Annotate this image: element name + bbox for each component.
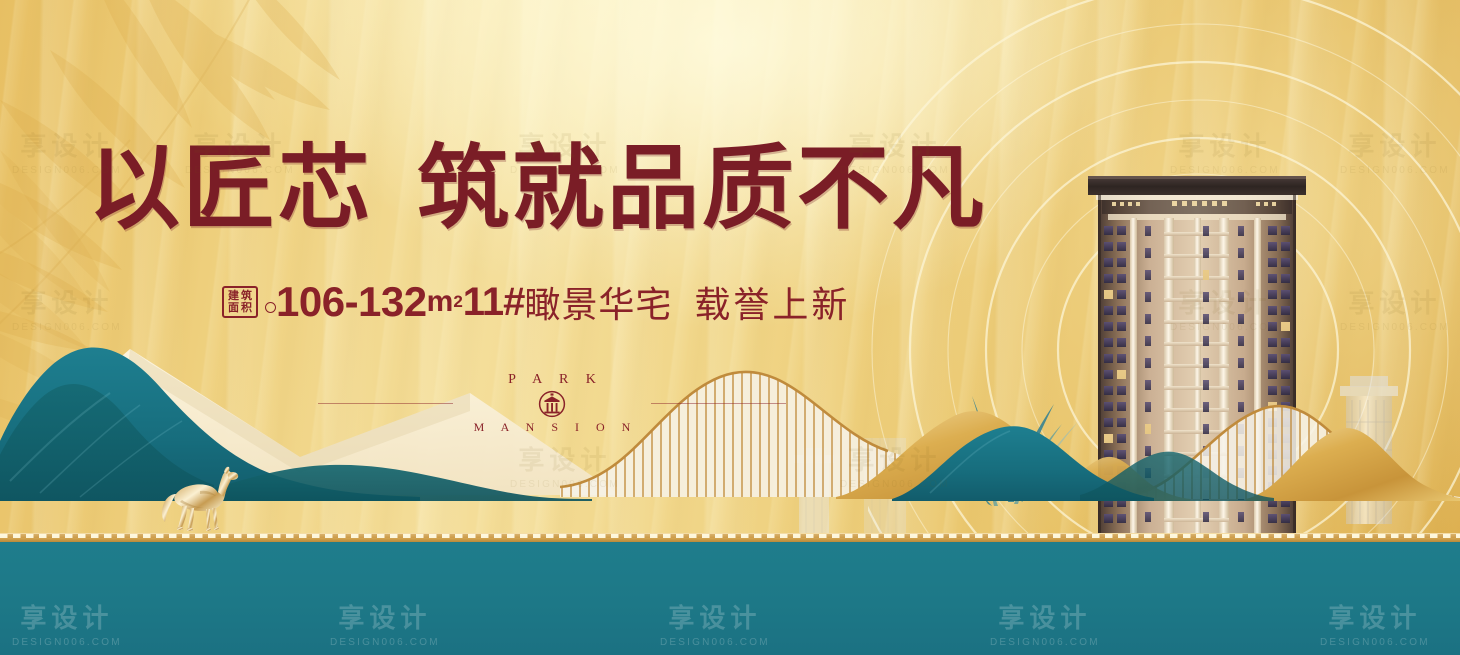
- footer-band: [0, 542, 1460, 655]
- feature-text: 瞰景华宅: [524, 276, 672, 328]
- area-range-value: 106-132: [276, 278, 427, 326]
- area-unit: m: [427, 285, 454, 319]
- logo-rule-left: [318, 403, 453, 404]
- tagline-text: 载誉上新: [694, 276, 850, 328]
- badge-char-1: 建: [227, 290, 240, 302]
- headline-part-1: 以匠芯: [88, 138, 373, 240]
- gold-divider-strip: [0, 533, 1460, 542]
- poster-canvas: 以匠芯筑就品质不凡 建 筑 面 积 106-132 m2 11# 瞰景华宅 载誉…: [0, 0, 1460, 655]
- badge-char-2: 筑: [240, 290, 253, 302]
- logo-rule-right: [651, 403, 786, 404]
- page-title: 以匠芯筑就品质不凡: [88, 140, 987, 239]
- headline-part-2: 筑就品质不凡: [417, 138, 987, 240]
- subtitle-line: 建 筑 面 积 106-132 m2 11# 瞰景华宅 载誉上新: [222, 276, 850, 328]
- brand-logo: P A R K M A N S I O N: [318, 372, 786, 434]
- logo-top-text: P A R K: [508, 372, 603, 388]
- area-badge: 建 筑 面 积: [222, 286, 258, 318]
- building-number: 11#: [463, 280, 525, 325]
- area-unit-superscript: 2: [453, 292, 462, 312]
- badge-unit-mark: [265, 302, 276, 313]
- badge-char-4: 积: [240, 302, 253, 314]
- logo-center: P A R K M A N S I O N: [453, 372, 652, 435]
- golden-horse-sculpture-icon: [152, 466, 244, 538]
- badge-char-3: 面: [227, 302, 240, 314]
- gate-emblem-icon: [538, 390, 566, 418]
- logo-bottom-text: M A N S I O N: [474, 420, 638, 435]
